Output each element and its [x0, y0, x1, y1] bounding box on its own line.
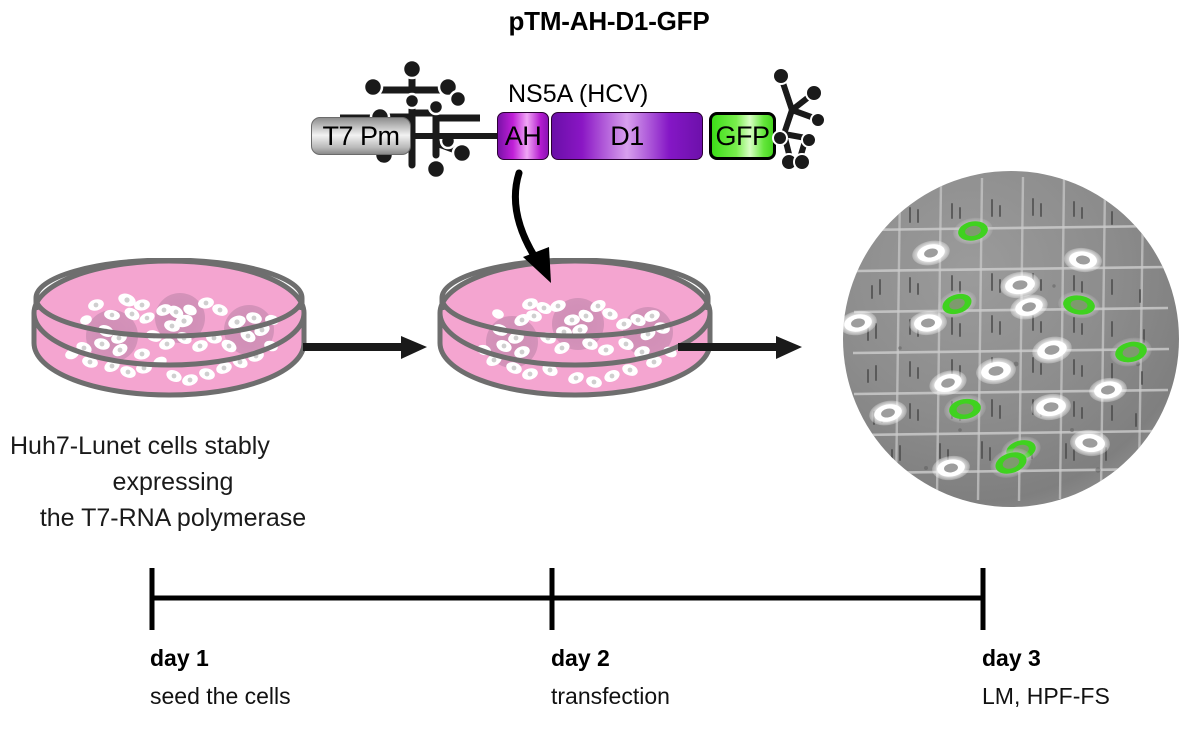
dish1-caption-line-3: the T7-RNA polymerase [0, 500, 346, 536]
timeline-day-2-event: transfection [551, 683, 670, 710]
dish1-caption-line-1: Huh7-Lunet cells stably [10, 428, 346, 464]
timeline-axis [0, 540, 1200, 650]
rna-stem-loop-3prime-icon [770, 62, 830, 172]
timeline-day-3-label: day 3 [982, 645, 1041, 672]
domain-box-d1[interactable]: D1 [551, 112, 703, 160]
timeline-day-1-label: day 1 [150, 645, 209, 672]
timeline: day 1 seed the cells day 2 transfection … [0, 540, 1200, 746]
domain-box-ah-label: AH [498, 113, 548, 159]
petri-dish-seeded[interactable] [24, 258, 314, 406]
reporter-box-gfp-label: GFP [712, 115, 773, 157]
curved-arrow-transfection [495, 165, 575, 290]
timeline-day-1-event: seed the cells [150, 683, 291, 710]
arrow-dish1-to-dish2 [303, 330, 433, 366]
dish1-caption: Huh7-Lunet cells stably expressing the T… [0, 428, 346, 536]
construct-backbone-line [405, 128, 505, 144]
timeline-day-3-event: LM, HPF-FS [982, 683, 1110, 710]
promoter-box-label: T7 Pm [312, 118, 410, 154]
sapphire-disc[interactable] [840, 168, 1182, 510]
arrow-dish2-to-carrier [678, 330, 808, 366]
domain-box-ah[interactable]: AH [497, 112, 549, 160]
petri-dish-transfected[interactable] [430, 258, 720, 406]
timeline-day-2-label: day 2 [551, 645, 610, 672]
ns5a-region-label: NS5A (HCV) [508, 80, 648, 109]
figure-root: pTM-AH-D1-GFP [0, 0, 1200, 746]
reporter-box-gfp[interactable]: GFP [709, 112, 776, 160]
dish1-caption-line-2: expressing [0, 464, 346, 500]
domain-box-d1-label: D1 [552, 113, 702, 159]
promoter-box-t7[interactable]: T7 Pm [311, 117, 411, 155]
